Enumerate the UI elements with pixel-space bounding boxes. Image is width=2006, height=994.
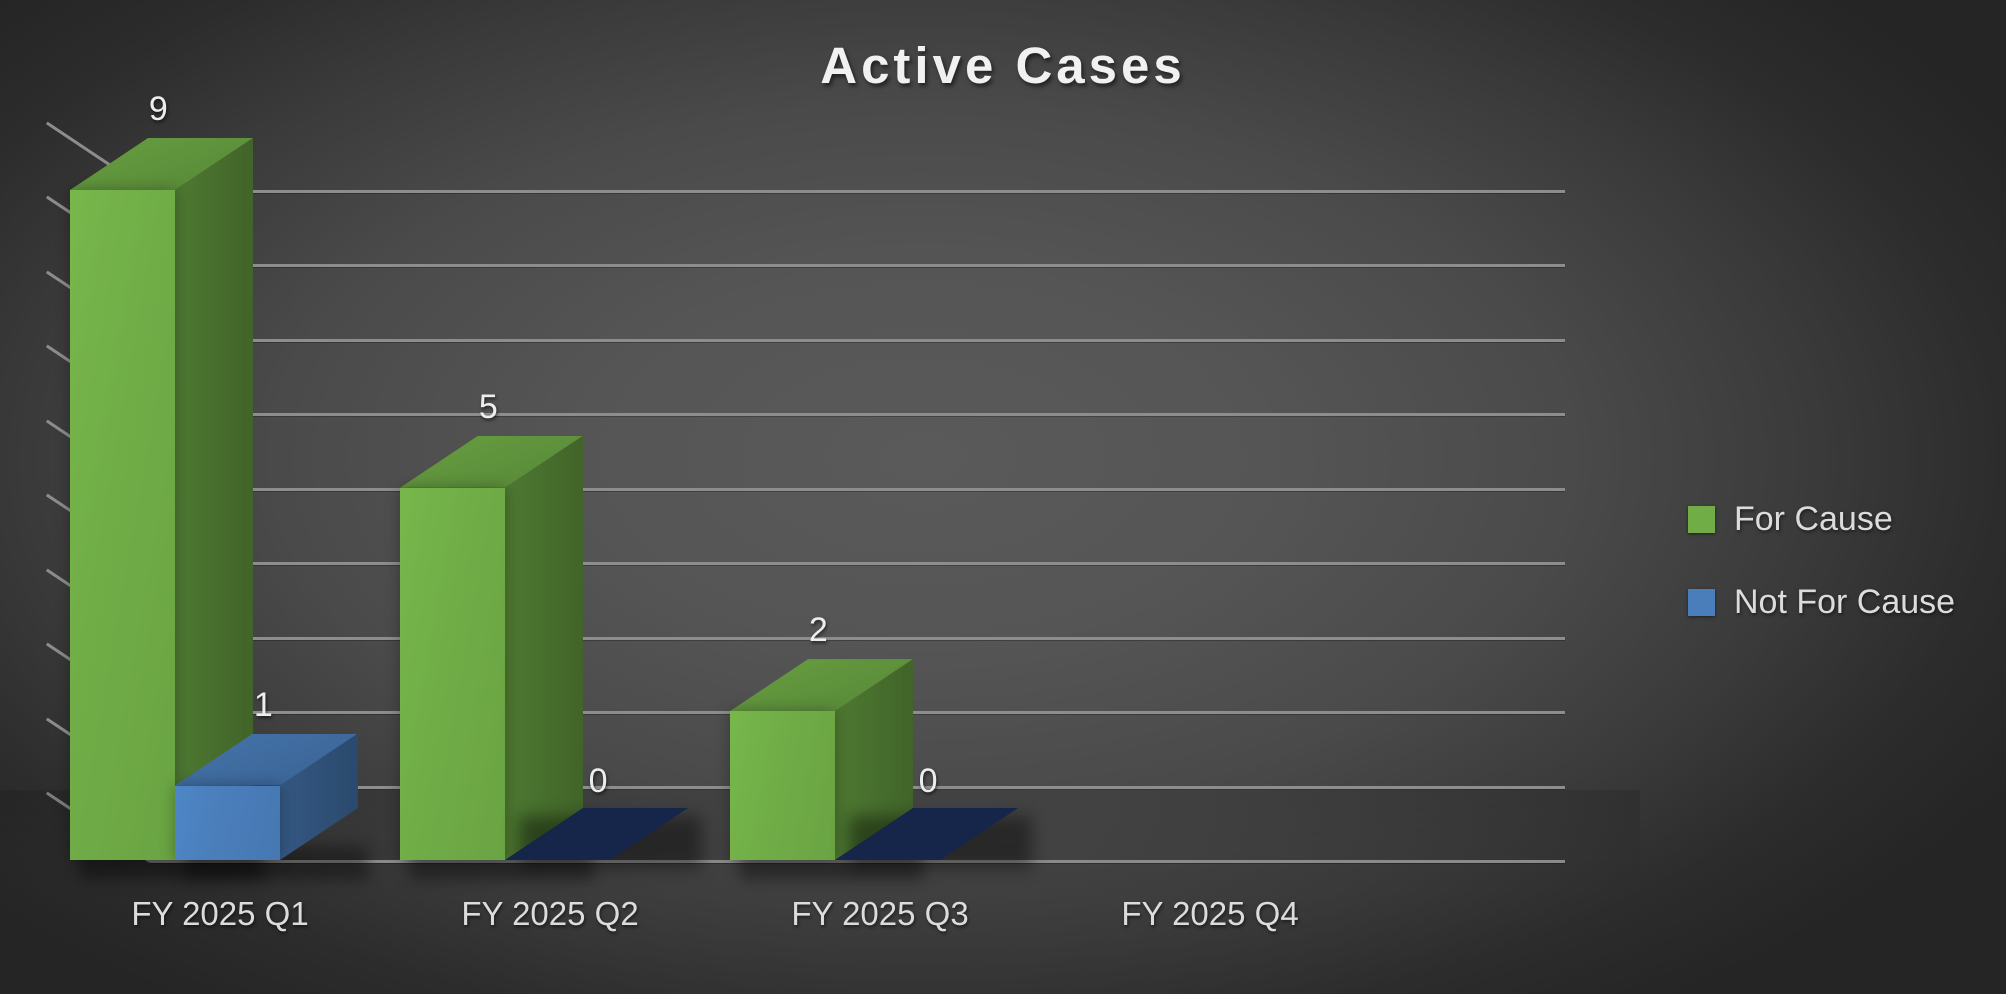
legend-item-for-cause[interactable]: For Cause	[1688, 500, 1955, 539]
legend-swatch-icon	[1688, 589, 1715, 616]
category-label-4: FY 2025 Q4	[1121, 895, 1298, 933]
legend-item-not-for-cause[interactable]: Not For Cause	[1688, 583, 1955, 622]
data-label: 9	[149, 90, 168, 129]
chart-legend: For CauseNot For Cause	[1688, 500, 1955, 622]
data-label: 0	[919, 762, 938, 801]
bar-side-face	[505, 436, 583, 860]
data-label: 2	[809, 611, 828, 650]
plot-area: 915020	[0, 120, 1640, 910]
data-label: 5	[479, 388, 498, 427]
category-label-2: FY 2025 Q2	[461, 895, 638, 933]
chart-container: Active Cases 915020 FY 2025 Q1FY 2025 Q2…	[0, 0, 2006, 994]
legend-swatch-icon	[1688, 506, 1715, 533]
bar-front-face	[70, 190, 175, 860]
legend-label: For Cause	[1734, 500, 1893, 539]
chart-title: Active Cases	[0, 36, 2006, 95]
bar-front-face	[175, 786, 280, 860]
bars-layer: 915020	[0, 120, 1640, 910]
category-label-3: FY 2025 Q3	[791, 895, 968, 933]
bar-not-for-cause[interactable]	[175, 734, 358, 860]
data-label: 1	[254, 686, 273, 725]
bar-front-face	[730, 711, 835, 860]
category-label-1: FY 2025 Q1	[131, 895, 308, 933]
legend-label: Not For Cause	[1734, 583, 1955, 622]
data-label: 0	[589, 762, 608, 801]
bar-for-cause[interactable]	[400, 436, 583, 860]
category-axis-labels: FY 2025 Q1FY 2025 Q2FY 2025 Q3FY 2025 Q4	[0, 895, 1640, 955]
bar-front-face	[400, 488, 505, 860]
